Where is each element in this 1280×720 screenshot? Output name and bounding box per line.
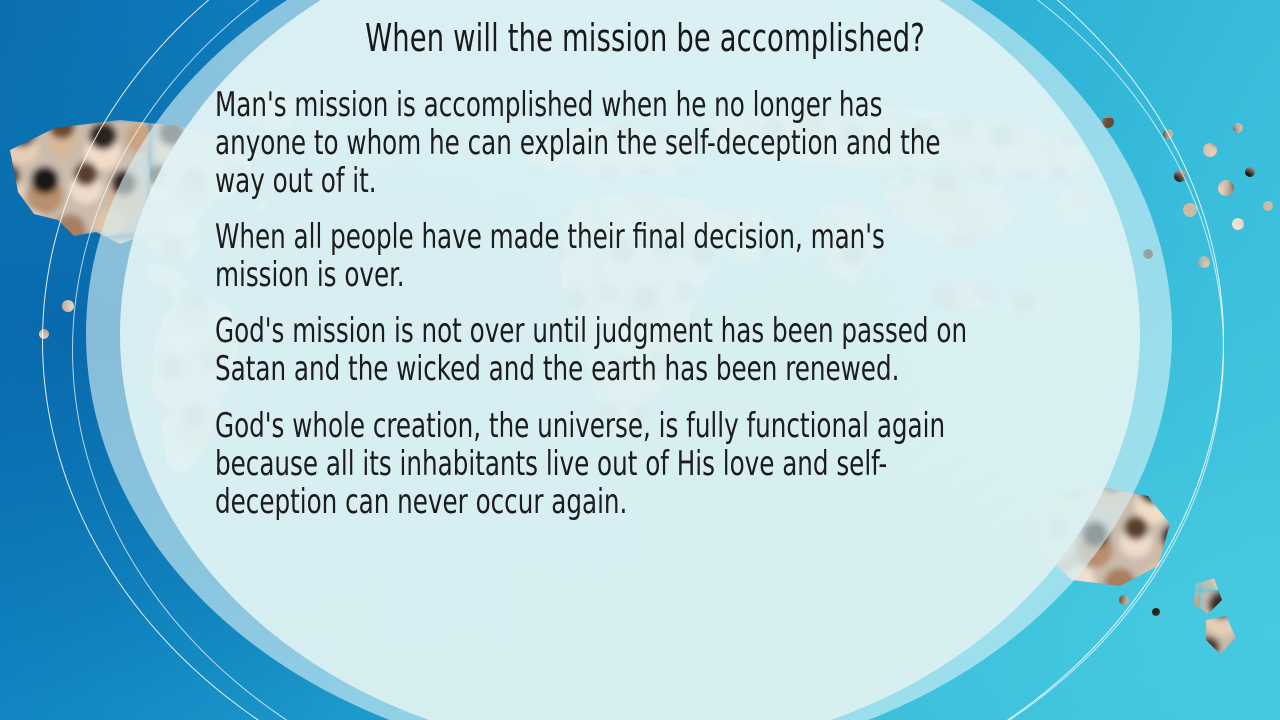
slide-title: When will the mission be accomplished?: [273, 18, 1017, 59]
body-paragraph-4: God's whole creation, the universe, is f…: [215, 407, 1052, 521]
slide-body: Man's mission is accomplished when he no…: [215, 86, 1215, 521]
body-paragraph-2: When all people have made their final de…: [215, 218, 1052, 294]
presentation-slide: When will the mission be accomplished? M…: [0, 0, 1280, 720]
body-paragraph-1: Man's mission is accomplished when he no…: [215, 86, 1052, 200]
slide-content: When will the mission be accomplished? M…: [0, 0, 1280, 720]
body-paragraph-3: God's mission is not over until judgment…: [215, 312, 1052, 388]
